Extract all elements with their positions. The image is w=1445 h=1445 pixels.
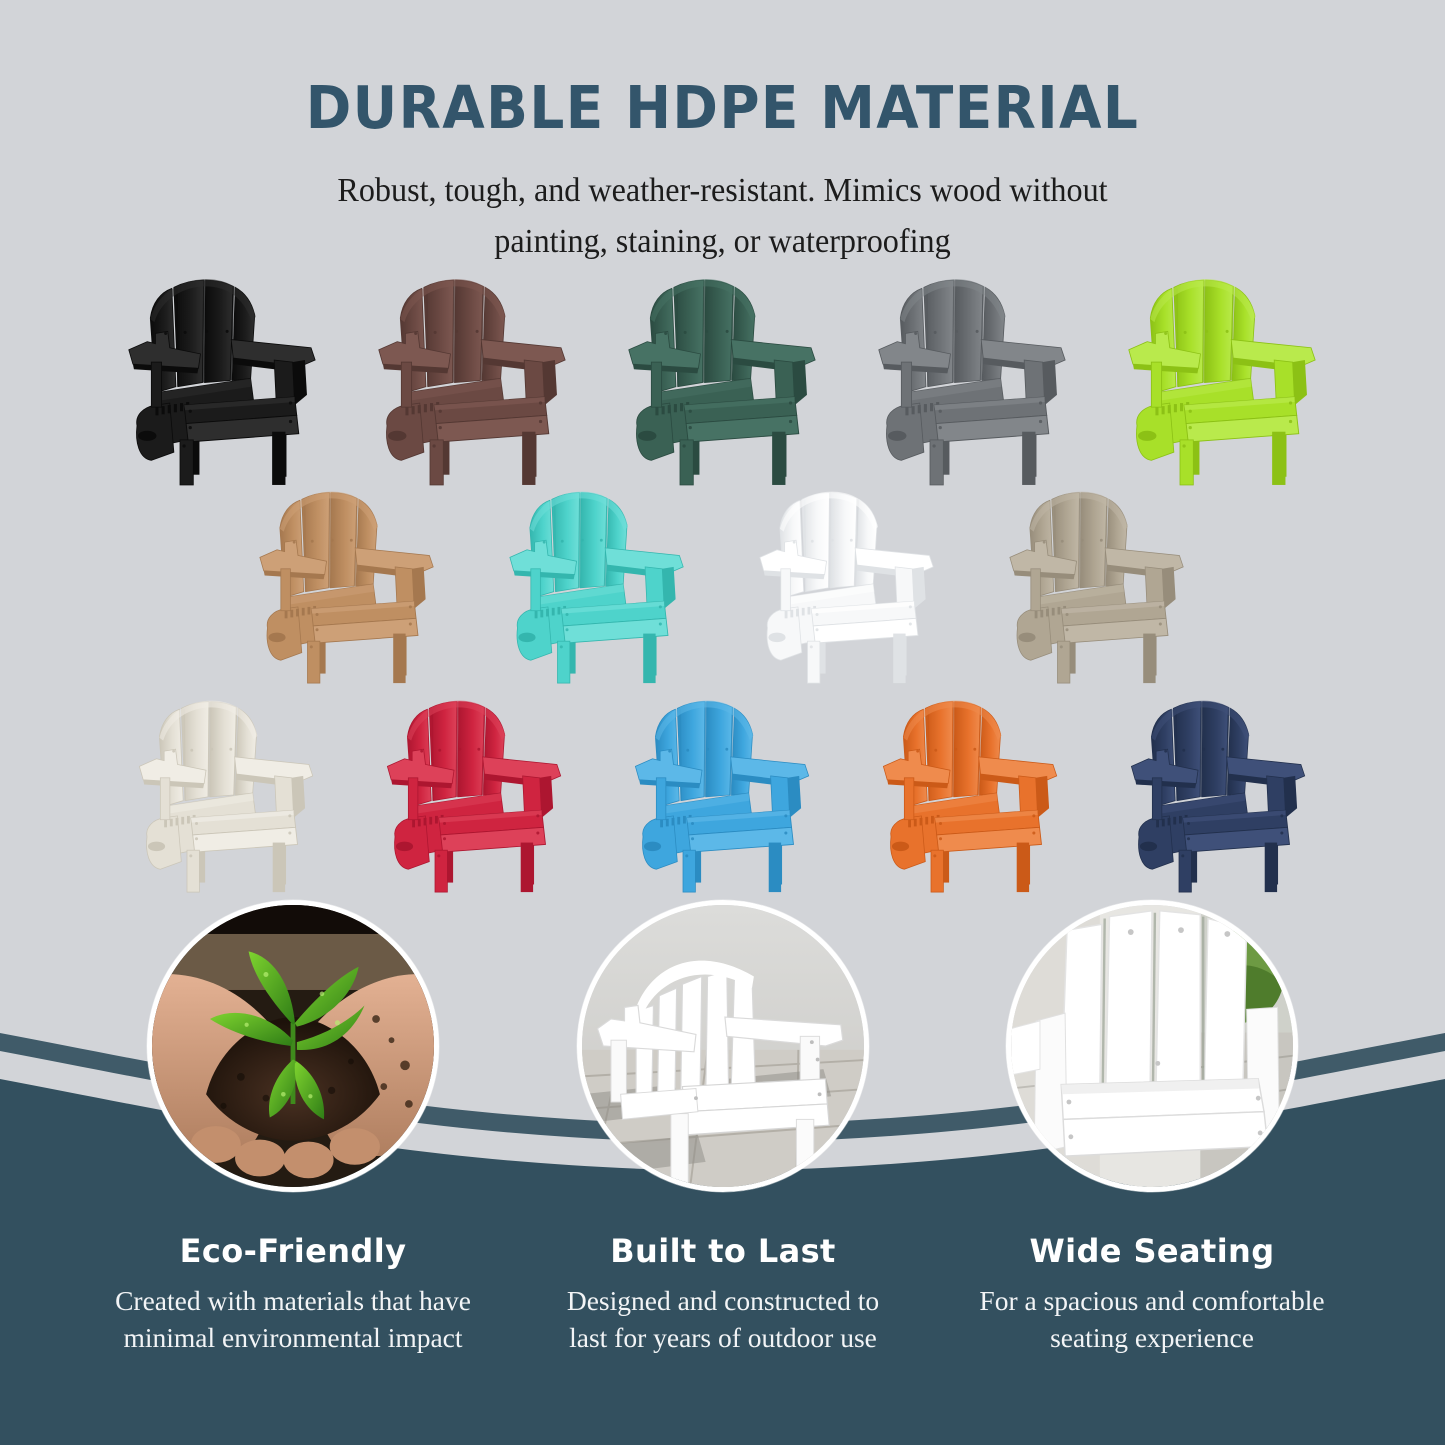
chair-swatch-dark-green[interactable]: [618, 272, 828, 487]
chair-swatch-ivory[interactable]: [124, 694, 330, 894]
feature-description: For a spacious and comfortable seating e…: [917, 1283, 1387, 1356]
seedling-in-hands-icon: [152, 905, 434, 1187]
feature-photo-wide-seating: [1006, 900, 1298, 1192]
feature-description: Created with materials that have minimal…: [58, 1283, 528, 1356]
header: DURABLE HDPE MATERIAL Robust, tough, and…: [0, 0, 1445, 268]
subtitle-line-2: painting, staining, or waterproofing: [29, 217, 1416, 268]
white-adirondack-chair-patio-icon: [582, 905, 864, 1187]
chair-swatch-brown[interactable]: [368, 272, 578, 487]
chair-row: [0, 694, 1445, 894]
feature-desc-line-2: last for years of outdoor use: [488, 1320, 958, 1357]
chair-swatch-navy[interactable]: [1116, 694, 1322, 894]
chair-swatch-teak[interactable]: [245, 485, 450, 685]
chair-swatch-turquoise[interactable]: [495, 485, 700, 685]
feature-text-eco-friendly: Eco-Friendly Created with materials that…: [58, 1232, 528, 1356]
feature-desc-line-2: minimal environmental impact: [58, 1320, 528, 1357]
chair-swatch-weathered-wood[interactable]: [995, 485, 1200, 685]
feature-photo-built-to-last: [577, 900, 869, 1192]
chair-swatch-light-blue[interactable]: [620, 694, 826, 894]
infographic-page: DURABLE HDPE MATERIAL Robust, tough, and…: [0, 0, 1445, 1445]
feature-desc-line-1: Created with materials that have: [58, 1283, 528, 1320]
feature-text-wide-seating: Wide Seating For a spacious and comforta…: [917, 1232, 1387, 1356]
feature-title: Eco-Friendly: [58, 1232, 528, 1270]
feature-title: Built to Last: [488, 1232, 958, 1270]
chair-row: [0, 485, 1445, 685]
chair-row: [0, 272, 1445, 487]
feature-desc-line-1: Designed and constructed to: [488, 1283, 958, 1320]
feature-title: Wide Seating: [917, 1232, 1387, 1270]
feature-desc-line-1: For a spacious and comfortable: [917, 1283, 1387, 1320]
page-title: DURABLE HDPE MATERIAL: [51, 78, 1395, 138]
page-subtitle: Robust, tough, and weather-resistant. Mi…: [29, 166, 1416, 268]
feature-desc-line-2: seating experience: [917, 1320, 1387, 1357]
chair-swatch-lime-green[interactable]: [1118, 272, 1328, 487]
chair-swatch-black[interactable]: [118, 272, 328, 487]
feature-text-built-to-last: Built to Last Designed and constructed t…: [488, 1232, 958, 1356]
chair-swatch-gray[interactable]: [868, 272, 1078, 487]
subtitle-line-1: Robust, tough, and weather-resistant. Mi…: [29, 166, 1416, 217]
chair-swatch-white[interactable]: [745, 485, 950, 685]
white-chair-wide-seat-closeup-icon: [1011, 905, 1293, 1187]
chair-swatch-orange[interactable]: [868, 694, 1074, 894]
feature-description: Designed and constructed to last for yea…: [488, 1283, 958, 1356]
feature-photo-eco-friendly: [147, 900, 439, 1192]
chair-swatch-red[interactable]: [372, 694, 578, 894]
